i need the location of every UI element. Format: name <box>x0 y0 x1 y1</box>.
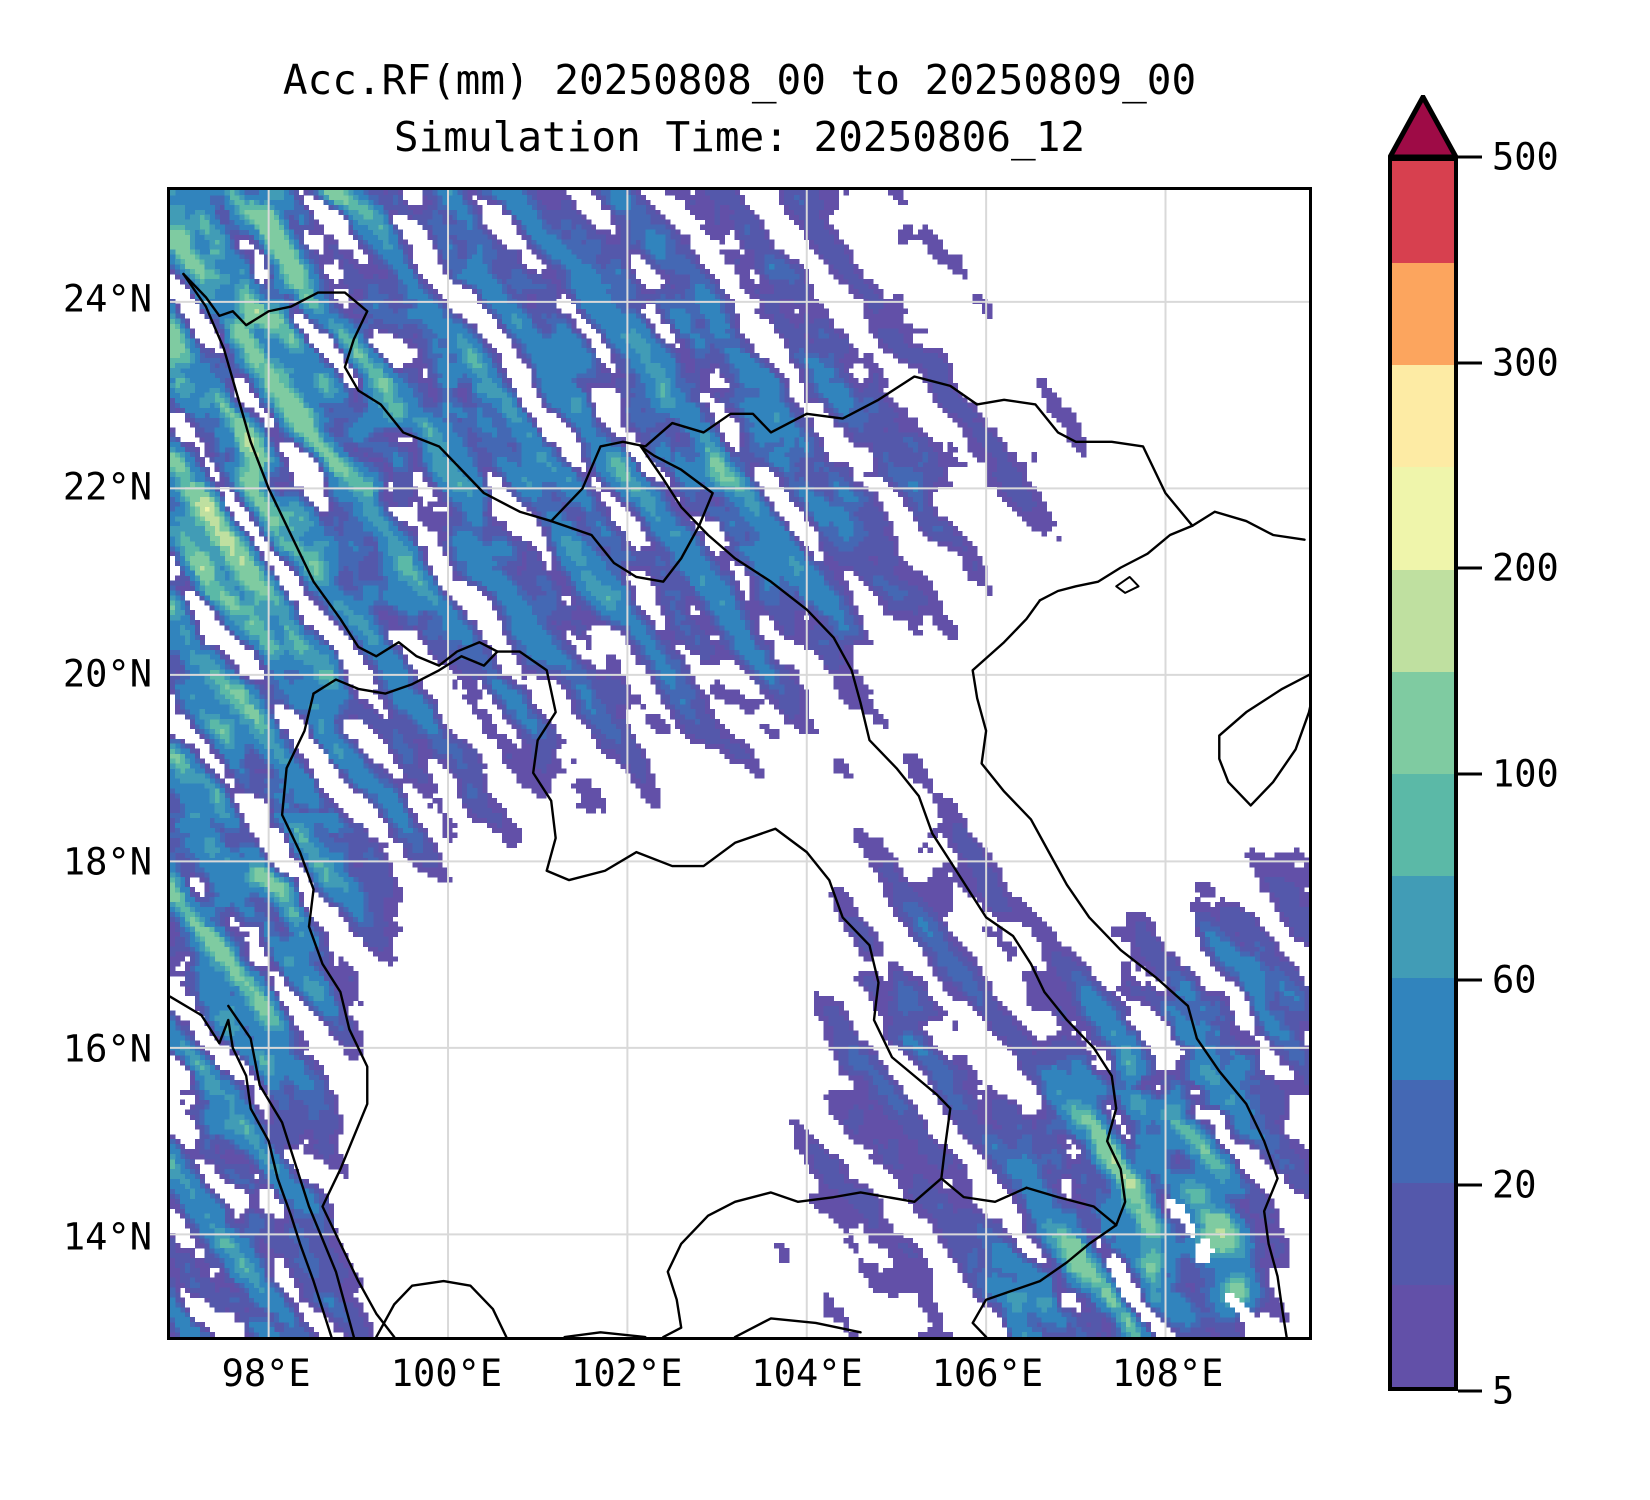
map-boundary-line <box>170 997 331 1337</box>
colorbar-band <box>1392 467 1454 569</box>
coastline-and-border-layer <box>170 190 1309 1337</box>
colorbar-tick-label: 500 <box>1492 136 1559 179</box>
colorbar-band <box>1392 161 1454 263</box>
colorbar-band <box>1392 1285 1454 1387</box>
colorbar-tick-label: 60 <box>1492 958 1537 1001</box>
map-boundary-line <box>376 1281 506 1337</box>
colorbar-over-arrow <box>1388 95 1458 159</box>
colorbar-tick-mark <box>1458 1390 1482 1393</box>
map-boundary-line <box>663 1178 941 1337</box>
latitude-tick-label: 20°N <box>0 653 152 696</box>
colorbar-band <box>1392 1183 1454 1285</box>
colorbar <box>1388 95 1458 1391</box>
map-boundary-line <box>565 1332 646 1337</box>
colorbar-band <box>1392 876 1454 978</box>
map-boundary-line <box>314 652 498 694</box>
colorbar-tick-label: 200 <box>1492 547 1559 590</box>
colorbar-tick-label: 20 <box>1492 1164 1537 1207</box>
map-boundary-line <box>183 274 497 666</box>
colorbar-band <box>1392 672 1454 774</box>
colorbar-band <box>1392 978 1454 1080</box>
map-boundary-line <box>1192 512 1304 540</box>
map-canvas <box>170 190 1309 1337</box>
map-boundary-line <box>973 600 1287 1337</box>
map-boundary-line <box>641 446 1125 1225</box>
colorbar-band <box>1392 1080 1454 1182</box>
map-boundary-line <box>973 1225 1117 1337</box>
map-boundary-line <box>183 274 1192 526</box>
latitude-tick-label: 14°N <box>0 1215 152 1258</box>
map-boundary-line <box>735 1318 861 1337</box>
map-boundary-line <box>1219 670 1309 805</box>
map-plot-area <box>167 187 1312 1340</box>
chart-title: Acc.RF(mm) 20250808_00 to 20250809_00 Si… <box>167 52 1312 166</box>
colorbar-tick-mark <box>1458 156 1482 159</box>
map-boundary-line <box>1040 526 1192 601</box>
latitude-tick-label: 22°N <box>0 465 152 508</box>
colorbar-bands <box>1388 157 1458 1391</box>
latitude-tick-label: 16°N <box>0 1028 152 1071</box>
latitude-tick-label: 18°N <box>0 840 152 883</box>
colorbar-tick-label: 100 <box>1492 753 1559 796</box>
colorbar-tick-mark <box>1458 567 1482 570</box>
map-boundary-line <box>228 1006 354 1337</box>
colorbar-tick-label: 5 <box>1492 1370 1514 1413</box>
longitude-tick-label: 108°E <box>1058 1352 1278 1395</box>
title-line-simulation-time: Simulation Time: 20250806_12 <box>167 109 1312 166</box>
map-boundary-line <box>1026 1188 1116 1225</box>
colorbar-band <box>1392 570 1454 672</box>
colorbar-tick-mark <box>1458 361 1482 364</box>
map-boundary-line <box>497 652 1026 1202</box>
latitude-tick-label: 24°N <box>0 278 152 321</box>
colorbar-band <box>1392 365 1454 467</box>
colorbar-tick-mark <box>1458 773 1482 776</box>
map-boundary-line <box>1116 577 1138 593</box>
colorbar-tick-label: 300 <box>1492 341 1559 384</box>
colorbar-tick-mark <box>1458 978 1482 981</box>
colorbar-band <box>1392 263 1454 365</box>
title-line-accumulation: Acc.RF(mm) 20250808_00 to 20250809_00 <box>167 52 1312 109</box>
colorbar-band <box>1392 774 1454 876</box>
colorbar-tick-mark <box>1458 1184 1482 1187</box>
